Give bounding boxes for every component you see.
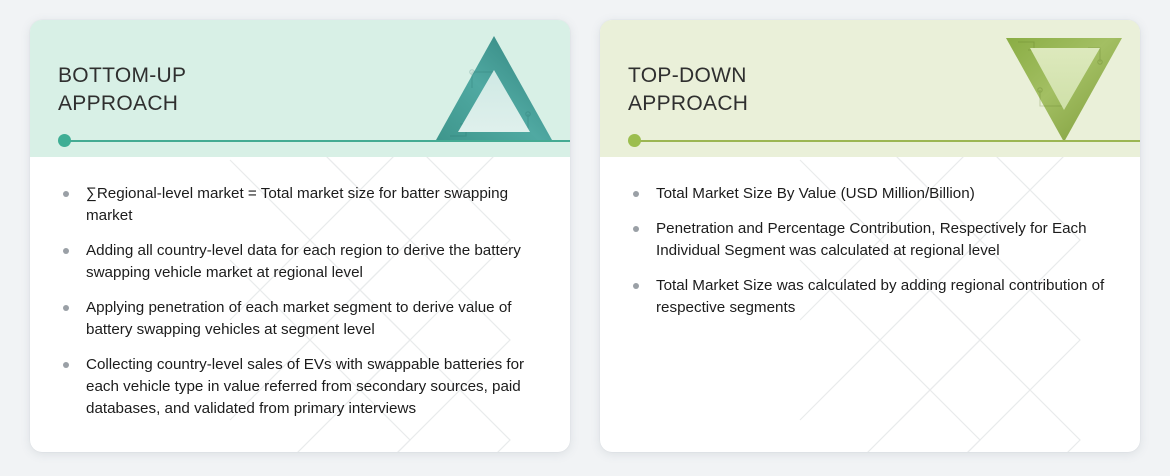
list-item: Applying penetration of each market segm…: [56, 297, 544, 341]
bullet-dot-icon: [63, 191, 69, 197]
list-item: Penetration and Percentage Contribution,…: [626, 218, 1114, 262]
page-title-bottom-up: BOTTOM-UP APPROACH: [58, 62, 186, 118]
card-top-down-approach: TOP-DOWN APPROACH: [600, 20, 1140, 452]
list-item-text: Total Market Size was calculated by addi…: [656, 277, 1104, 316]
bullet-list-top-down: Total Market Size By Value (USD Million/…: [626, 183, 1114, 319]
bullet-dot-icon: [633, 226, 639, 232]
list-item-text: Penetration and Percentage Contribution,…: [656, 220, 1087, 259]
list-item-text: Applying penetration of each market segm…: [86, 299, 512, 338]
page-title-top-down: TOP-DOWN APPROACH: [628, 62, 748, 118]
card-bottom-up-approach: BOTTOM-UP APPROACH: [30, 20, 570, 452]
list-item-text: Collecting country-level sales of EVs wi…: [86, 356, 524, 417]
accent-line: [636, 140, 1140, 142]
bullet-dot-icon: [633, 283, 639, 289]
triangle-up-icon: [432, 28, 556, 148]
accent-dot: [628, 134, 641, 147]
bullet-list-bottom-up: ∑Regional-level market = Total market si…: [56, 183, 544, 420]
list-item-text: Adding all country-level data for each r…: [86, 242, 521, 281]
card-body-top-down: Total Market Size By Value (USD Million/…: [600, 157, 1140, 452]
list-item: Adding all country-level data for each r…: [56, 240, 544, 284]
card-body-bottom-up: ∑Regional-level market = Total market si…: [30, 157, 570, 452]
accent-dot: [58, 134, 71, 147]
header-accent-rule-right: [628, 139, 1140, 142]
bullet-dot-icon: [63, 305, 69, 311]
bullet-dot-icon: [63, 248, 69, 254]
list-item: Collecting country-level sales of EVs wi…: [56, 354, 544, 420]
bullet-dot-icon: [63, 362, 69, 368]
list-item: Total Market Size was calculated by addi…: [626, 275, 1114, 319]
card-header-top-down: TOP-DOWN APPROACH: [600, 20, 1140, 157]
list-item: Total Market Size By Value (USD Million/…: [626, 183, 1114, 205]
triangle-down-icon: [1002, 28, 1126, 148]
card-header-bottom-up: BOTTOM-UP APPROACH: [30, 20, 570, 157]
approach-cards-board: BOTTOM-UP APPROACH: [0, 0, 1170, 476]
accent-line: [66, 140, 570, 142]
list-item-text: ∑Regional-level market = Total market si…: [86, 185, 508, 224]
list-item: ∑Regional-level market = Total market si…: [56, 183, 544, 227]
header-accent-rule-left: [58, 139, 570, 142]
list-item-text: Total Market Size By Value (USD Million/…: [656, 185, 975, 202]
bullet-dot-icon: [633, 191, 639, 197]
